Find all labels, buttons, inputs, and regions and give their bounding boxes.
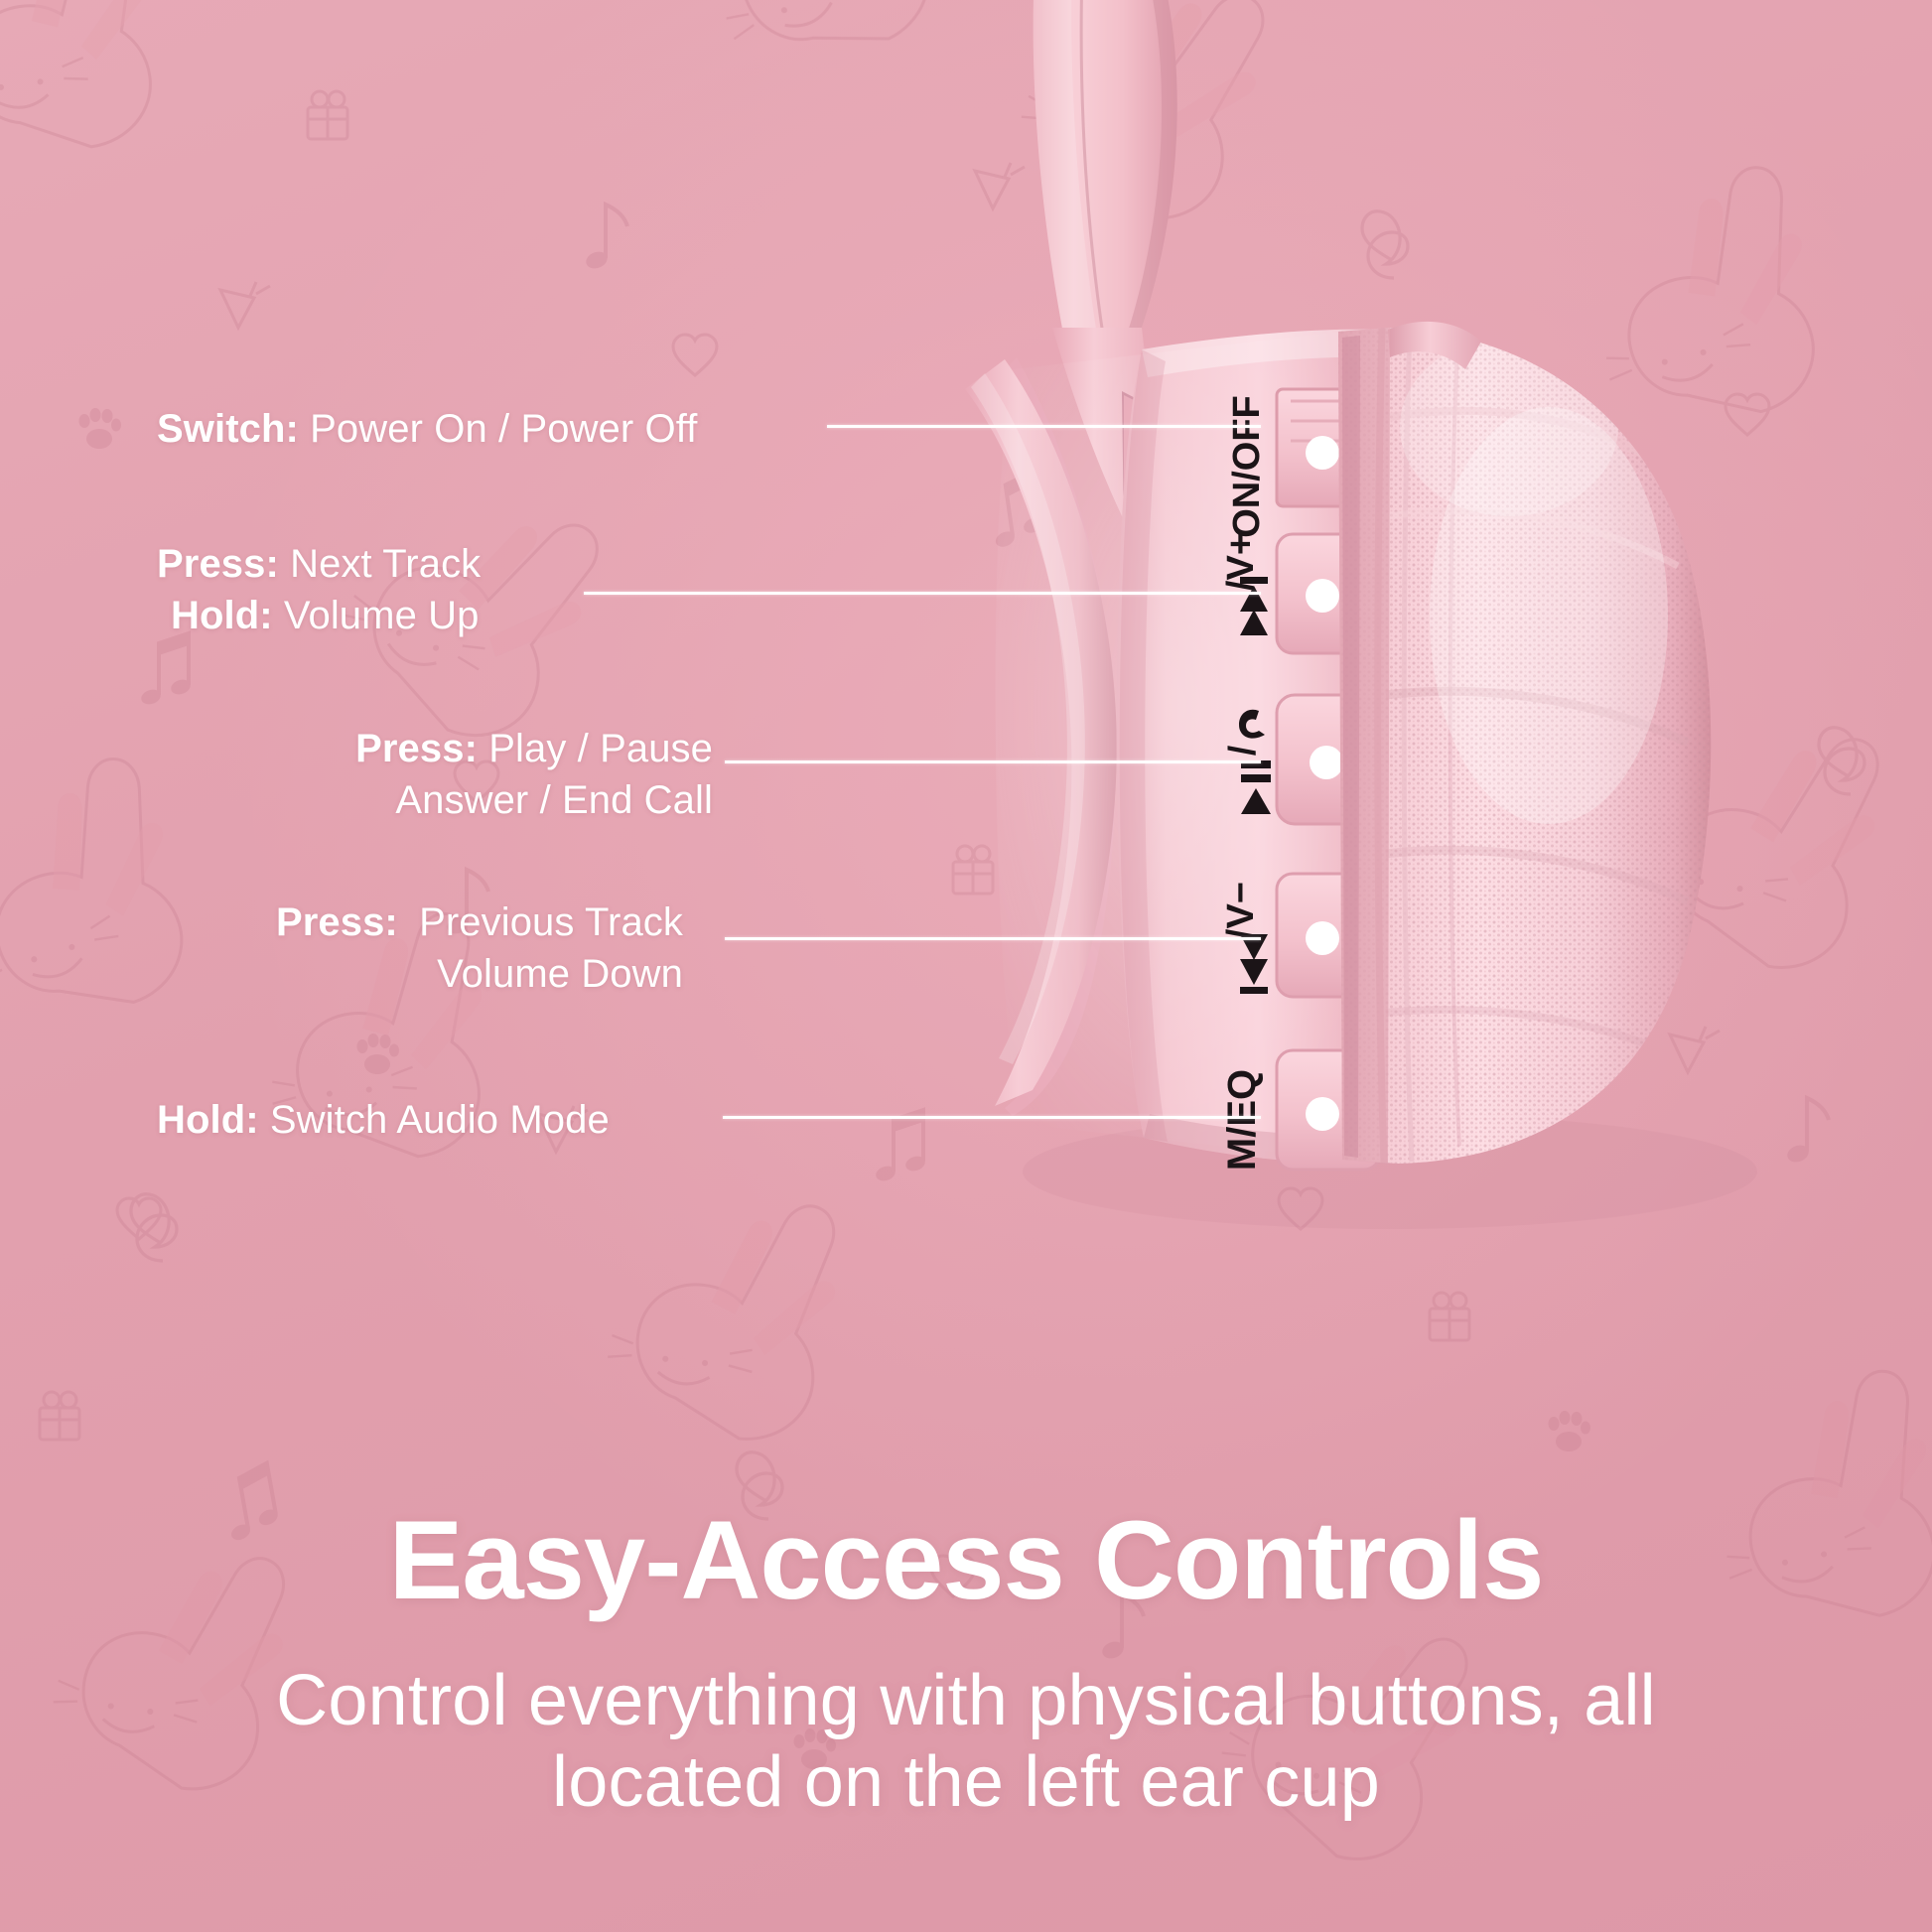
callout-audio-mode-line-1: Hold: Switch Audio Mode — [157, 1094, 610, 1146]
callout-play-pause-value-2: Answer / End Call — [395, 778, 713, 822]
headband — [1034, 0, 1177, 349]
headphone-yoke — [965, 328, 1172, 1116]
callout-previous-track-line-2: Volume Down — [0, 948, 683, 1000]
page-subheadline-line-2: located on the left ear cup — [179, 1741, 1753, 1823]
button-label-next-track: /V+ — [1220, 533, 1268, 635]
callout-previous-track-value-2: Volume Down — [437, 952, 683, 996]
ear-cushion — [1330, 318, 1747, 1181]
callout-play-pause-line-2: Answer / End Call — [0, 774, 713, 826]
page-subheadline: Control everything with physical buttons… — [179, 1660, 1753, 1823]
leader-line-audio-mode — [723, 1116, 1261, 1119]
callout-next-track-key-2: Hold: — [171, 594, 273, 637]
callout-next-track-value-2: Volume Up — [284, 594, 480, 637]
svg-text:/V−: /V− — [1220, 882, 1262, 939]
button-label-audio-mode: M/EQ — [1220, 1069, 1264, 1171]
callout-power-line-1: Switch: Power On / Power Off — [157, 403, 697, 455]
button-audio-mode — [1277, 1050, 1380, 1170]
svg-text:/V+: /V+ — [1220, 533, 1262, 591]
callout-power: Switch: Power On / Power Off — [157, 403, 697, 455]
callout-next-track: Press: Next Track Hold: Volume Up — [157, 538, 481, 641]
callout-play-pause-key-1: Press: — [355, 727, 478, 770]
callout-previous-track-key-1: Press: — [276, 900, 398, 944]
page-headline: Easy-Access Controls — [0, 1505, 1932, 1616]
callout-audio-mode-value-1: Switch Audio Mode — [270, 1098, 610, 1142]
leader-line-power — [827, 425, 1261, 428]
infographic-canvas: ON/OFF /V+ / — [0, 0, 1932, 1932]
page-subheadline-line-1: Control everything with physical buttons… — [179, 1660, 1753, 1741]
control-buttons — [1277, 389, 1384, 1170]
leader-line-play-pause — [725, 760, 1261, 763]
callout-next-track-value-1: Next Track — [290, 542, 481, 586]
callout-power-key-1: Switch: — [157, 407, 299, 451]
leader-line-previous-track — [725, 937, 1261, 940]
callout-audio-mode-key-1: Hold: — [157, 1098, 259, 1142]
callout-play-pause: Press: Play / Pause Answer / End Call — [0, 723, 713, 826]
button-play-pause — [1277, 695, 1384, 824]
callout-play-pause-line-1: Press: Play / Pause — [0, 723, 713, 774]
button-label-power: ON/OFF — [1226, 395, 1268, 538]
ear-cup-body — [973, 318, 1390, 1181]
callout-audio-mode: Hold: Switch Audio Mode — [157, 1094, 610, 1146]
button-power — [1277, 389, 1380, 506]
callout-previous-track-line-1: Press: Previous Track — [0, 897, 683, 948]
leader-line-next-track — [584, 592, 1261, 595]
callout-previous-track: Press: Previous Track Volume Down — [0, 897, 683, 1000]
button-previous-track — [1277, 874, 1380, 997]
callout-previous-track-value-1: Previous Track — [409, 900, 683, 944]
callout-next-track-line-1: Press: Next Track — [157, 538, 481, 590]
callout-power-value-1: Power On / Power Off — [310, 407, 697, 451]
button-next-track — [1277, 534, 1380, 653]
callout-next-track-line-2: Hold: Volume Up — [157, 590, 481, 641]
callout-play-pause-value-1: Play / Pause — [488, 727, 713, 770]
callout-next-track-key-1: Press: — [157, 542, 279, 586]
svg-text:/: / — [1222, 745, 1264, 756]
